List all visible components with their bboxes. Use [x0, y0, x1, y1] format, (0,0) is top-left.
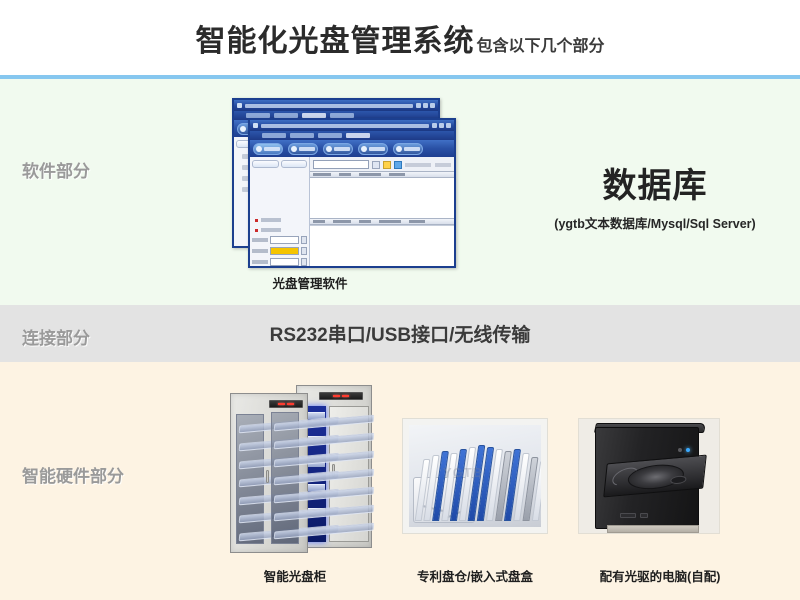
sidebar-tab[interactable] [281, 160, 308, 168]
database-subtitle: (ygtb文本数据库/Mysql/Sql Server) [520, 213, 790, 232]
sidebar-form [252, 236, 307, 268]
table-header-lower [310, 218, 454, 225]
tree-item-alert[interactable] [255, 218, 307, 222]
toolbar-button[interactable] [393, 143, 423, 155]
toolbar-button[interactable] [323, 143, 353, 155]
folder-icon[interactable] [383, 161, 391, 169]
menu-tab[interactable] [290, 133, 314, 138]
software-window-front [248, 118, 456, 268]
menu-tab[interactable] [318, 133, 342, 138]
caption-hardware-pc: 配有光驱的电脑(自配) [570, 566, 750, 585]
toolbar-button[interactable] [288, 143, 318, 155]
header: 智能化光盘管理系统 包含以下几个部分 [0, 0, 800, 75]
page-title-main: 智能化光盘管理系统 [195, 16, 474, 60]
disc-bin-photo: YGTB [402, 418, 548, 534]
status-text [435, 163, 451, 167]
section-label-hardware: 智能硬件部分 [22, 462, 124, 487]
window-sidebar [250, 157, 310, 266]
menu-tab-active[interactable] [346, 133, 370, 138]
window-toolbar [250, 140, 454, 157]
form-input[interactable] [270, 236, 299, 244]
picker-icon[interactable] [301, 247, 307, 255]
disc-in-icon [256, 146, 262, 152]
window-titlebar [250, 120, 454, 131]
section-label-software: 软件部分 [22, 157, 90, 182]
caption-software: 光盘管理软件 [230, 273, 390, 292]
form-row-highlighted [252, 247, 307, 255]
sidebar-tabs [252, 160, 307, 168]
window-menu-tabs [250, 131, 454, 140]
computer-with-optical-drive-photo [578, 418, 720, 534]
window-main-area [310, 157, 454, 266]
form-row [252, 236, 307, 244]
search-icon [396, 146, 402, 152]
disc-cabinet-photo [218, 382, 378, 556]
maximize-icon[interactable] [439, 123, 444, 128]
picker-icon[interactable] [301, 258, 307, 266]
sidebar-tab[interactable] [252, 160, 279, 168]
window-titlebar [234, 100, 438, 111]
minimize-icon[interactable] [416, 103, 421, 108]
minimize-icon[interactable] [432, 123, 437, 128]
led-display-icon [269, 400, 303, 408]
toolbar-button[interactable] [358, 143, 388, 155]
table-body-upper [310, 178, 454, 218]
close-icon[interactable] [446, 123, 451, 128]
window-body [250, 157, 454, 266]
alert-dot-icon [255, 229, 258, 232]
table-body-lower [310, 225, 454, 266]
form-row [252, 258, 307, 266]
cabinet-left [230, 393, 308, 553]
pc-front-button [620, 513, 636, 518]
watermark: YGTB [443, 465, 483, 480]
disc-hub [670, 475, 687, 484]
hdd-led-icon [678, 448, 682, 452]
window-app-icon [253, 123, 258, 128]
poster-root: 智能化光盘管理系统 包含以下几个部分 软件部分 [0, 0, 800, 600]
form-input-active[interactable] [270, 247, 299, 255]
window-title-text [245, 104, 413, 108]
status-text [405, 163, 431, 167]
window-app-icon [237, 103, 242, 108]
cabinet-handle [266, 470, 269, 483]
menu-tab[interactable] [262, 133, 286, 138]
search-input[interactable] [313, 160, 369, 169]
toolbar-button-active[interactable] [253, 143, 283, 155]
caption-hardware-cabinet: 智能光盘柜 [215, 566, 375, 585]
alert-dot-icon [255, 219, 258, 222]
tree-item-alert[interactable] [255, 228, 307, 232]
caption-hardware-bin: 专利盘仓/嵌入式盘盒 [390, 566, 560, 585]
window-controls [416, 103, 435, 108]
form-input[interactable] [270, 258, 299, 266]
page-title-sub: 包含以下几个部分 [476, 32, 604, 56]
window-controls [432, 123, 451, 128]
cabinet-glass-door-right [271, 412, 299, 544]
window-title-text [261, 124, 429, 128]
refresh-icon[interactable] [394, 161, 402, 169]
page-title: 智能化光盘管理系统 包含以下几个部分 [195, 16, 604, 60]
picker-icon[interactable] [301, 236, 307, 244]
table-header-upper [310, 171, 454, 178]
database-block: 数据库 (ygtb文本数据库/Mysql/Sql Server) [520, 158, 790, 232]
cabinet-glass-door-left [236, 414, 264, 544]
connection-text: RS232串口/USB接口/无线传输 [0, 320, 800, 347]
pc-front-button [640, 513, 648, 518]
disc-platter [627, 462, 686, 491]
gear-icon [361, 146, 367, 152]
database-title: 数据库 [520, 158, 790, 207]
toolbar-icon [240, 126, 246, 132]
maximize-icon[interactable] [423, 103, 428, 108]
power-led-icon [686, 448, 690, 452]
close-icon[interactable] [430, 103, 435, 108]
disc-query-icon [326, 146, 332, 152]
search-icon[interactable] [372, 161, 380, 169]
led-display-icon [319, 392, 363, 400]
disc-out-icon [291, 146, 297, 152]
pc-base [607, 525, 699, 533]
search-bar [310, 157, 454, 171]
